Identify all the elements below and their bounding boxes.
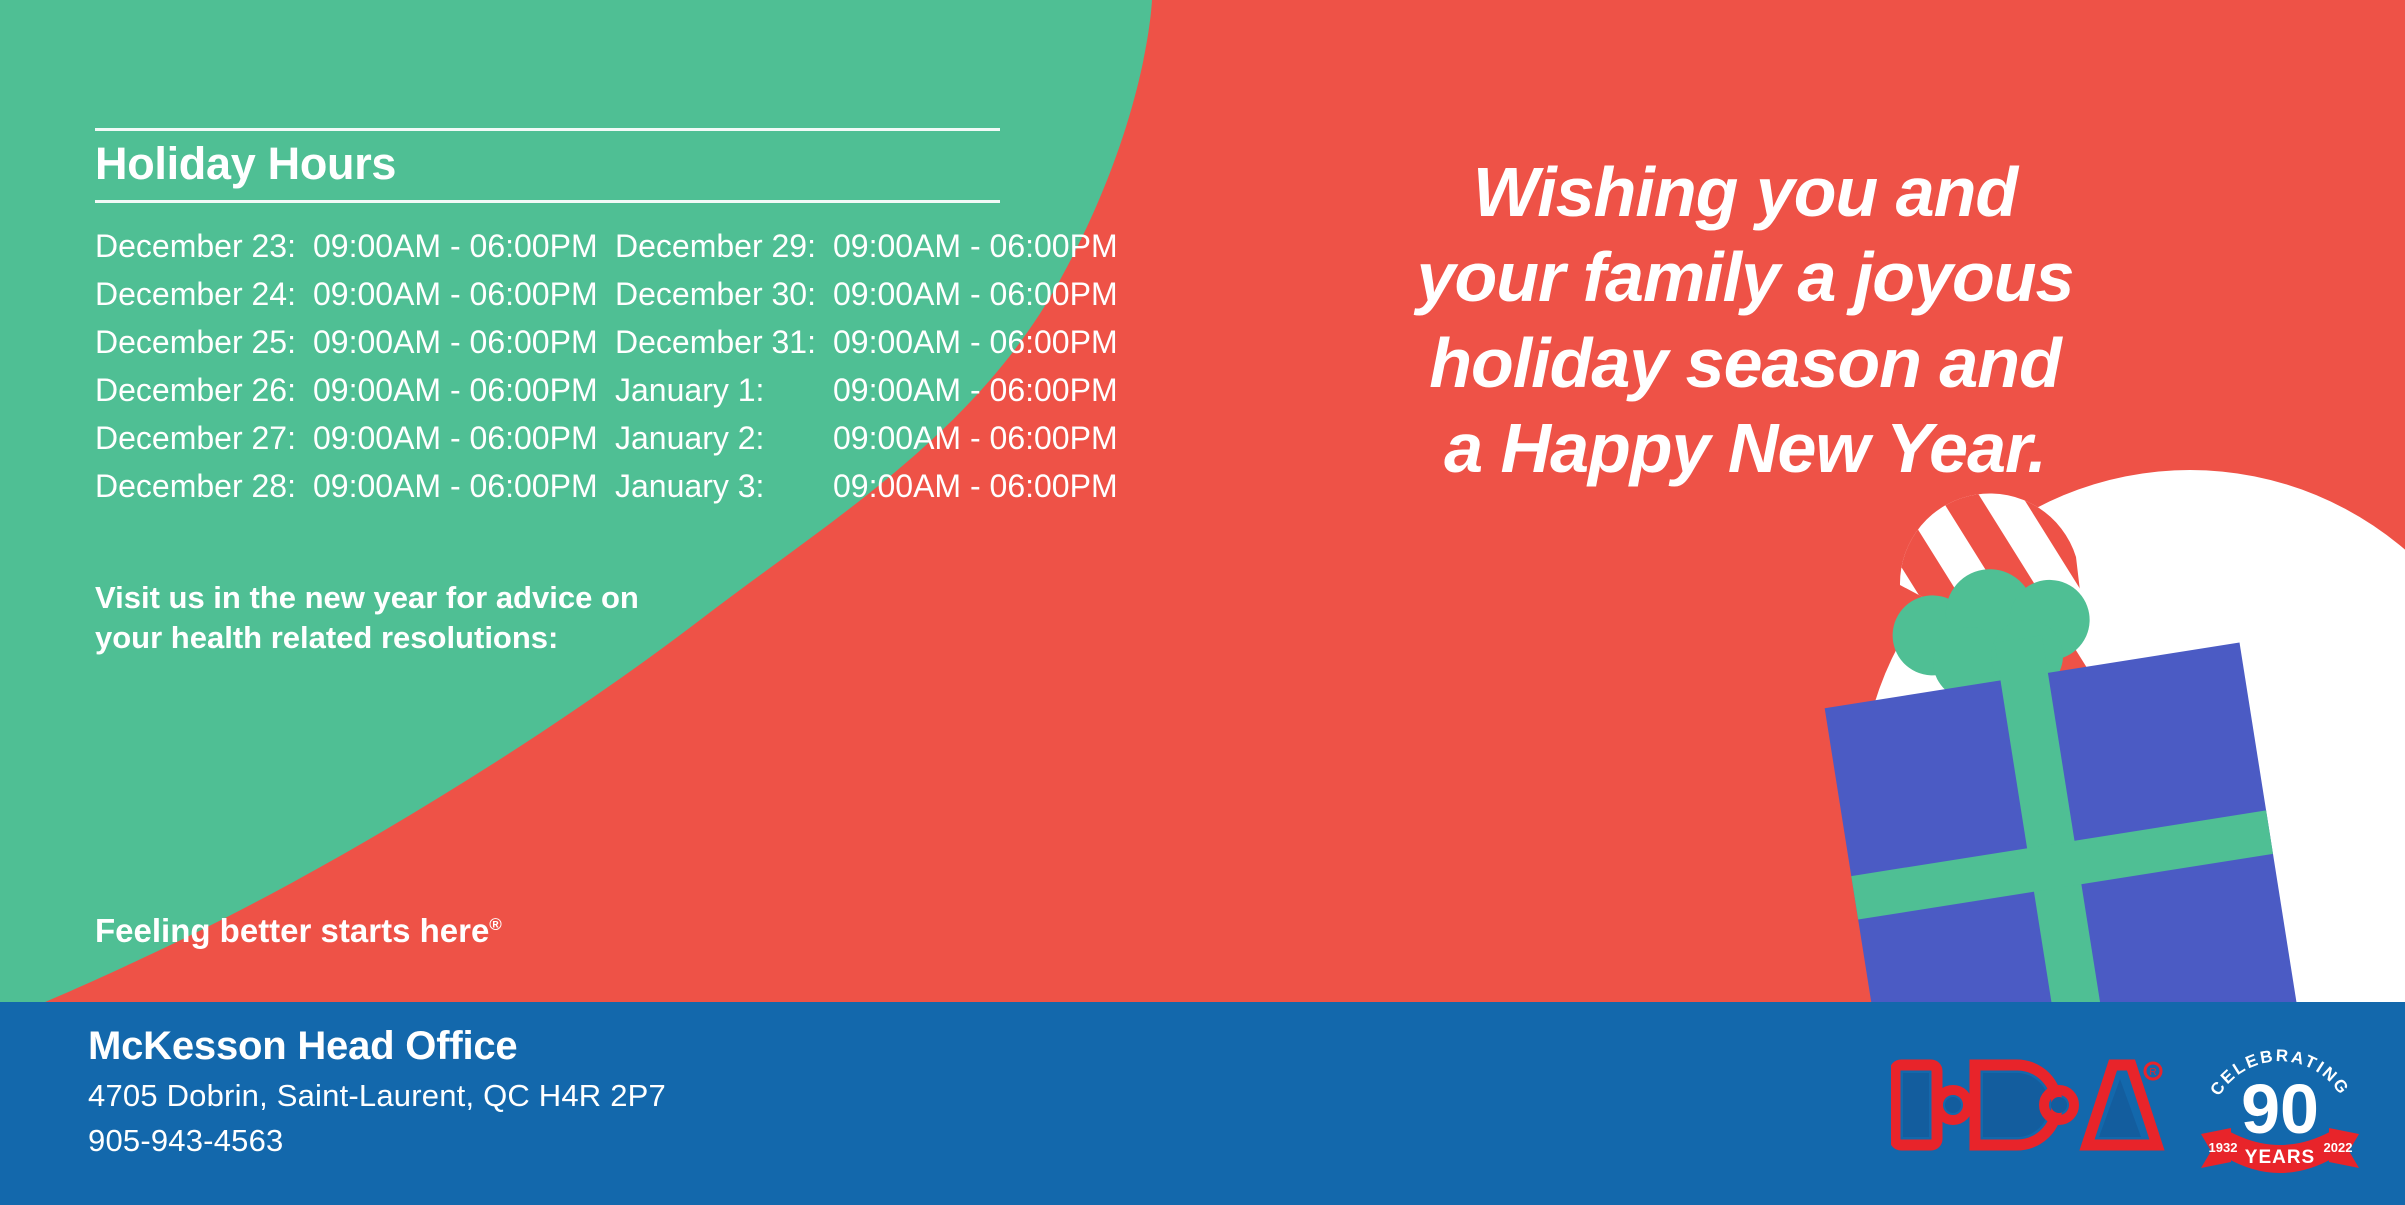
- hours-time: 09:00AM - 06:00PM: [313, 372, 598, 409]
- hours-time: 09:00AM - 06:00PM: [313, 324, 598, 361]
- footer-phone: 905-943-4563: [88, 1123, 666, 1159]
- hours-time: 09:00AM - 06:00PM: [833, 420, 1118, 457]
- hours-date: December 23:: [95, 228, 313, 265]
- badge-end-year: 2022: [2324, 1140, 2353, 1155]
- hours-time: 09:00AM - 06:00PM: [313, 228, 598, 265]
- hours-row: December 29: 09:00AM - 06:00PM: [615, 228, 1135, 276]
- hours-row: December 23: 09:00AM - 06:00PM: [95, 228, 615, 276]
- hours-row: January 2: 09:00AM - 06:00PM: [615, 420, 1135, 468]
- hours-date: December 24:: [95, 276, 313, 313]
- hours-row: December 24: 09:00AM - 06:00PM: [95, 276, 615, 324]
- holiday-greeting-card: Holiday Hours December 23: 09:00AM - 06:…: [0, 0, 2405, 1205]
- hours-time: 09:00AM - 06:00PM: [833, 468, 1118, 505]
- footer-address: 4705 Dobrin, Saint-Laurent, QC H4R 2P7: [88, 1078, 666, 1114]
- hours-row: January 1: 09:00AM - 06:00PM: [615, 372, 1135, 420]
- anniversary-badge: CELEBRATING 90 1932 2022 YEARS: [2197, 1033, 2363, 1173]
- badge-start-year: 1932: [2209, 1140, 2238, 1155]
- holiday-hours-block: Holiday Hours December 23: 09:00AM - 06:…: [95, 128, 1105, 516]
- hours-time: 09:00AM - 06:00PM: [313, 468, 598, 505]
- hours-time: 09:00AM - 06:00PM: [313, 276, 598, 313]
- hours-row: December 25: 09:00AM - 06:00PM: [95, 324, 615, 372]
- visit-note: Visit us in the new year for advice on y…: [95, 578, 855, 657]
- footer-logos: R CELEBRATING 90 1932 2022 YEARS: [1891, 1030, 2363, 1175]
- hours-date: December 29:: [615, 228, 833, 265]
- hours-row: December 26: 09:00AM - 06:00PM: [95, 372, 615, 420]
- hours-row: December 27: 09:00AM - 06:00PM: [95, 420, 615, 468]
- footer-office-title: McKesson Head Office: [88, 1024, 666, 1069]
- hours-date: December 25:: [95, 324, 313, 361]
- hours-panel: Holiday Hours December 23: 09:00AM - 06:…: [95, 0, 1215, 1002]
- hours-row: December 31: 09:00AM - 06:00PM: [615, 324, 1135, 372]
- hours-row: December 28: 09:00AM - 06:00PM: [95, 468, 615, 516]
- hours-date: January 2:: [615, 420, 833, 457]
- hours-title: Holiday Hours: [95, 131, 1105, 194]
- divider-top: [95, 128, 1000, 131]
- hours-row: January 3: 09:00AM - 06:00PM: [615, 468, 1135, 516]
- hours-date: January 1:: [615, 372, 833, 409]
- ida-logo[interactable]: R: [1891, 1049, 2167, 1157]
- hours-time: 09:00AM - 06:00PM: [833, 324, 1118, 361]
- hours-time: 09:00AM - 06:00PM: [833, 228, 1118, 265]
- holiday-illustration: [1790, 370, 2405, 1002]
- registered-mark-icon: ®: [489, 915, 502, 934]
- hours-time: 09:00AM - 06:00PM: [833, 276, 1118, 313]
- hours-time: 09:00AM - 06:00PM: [313, 420, 598, 457]
- hours-date: December 31:: [615, 324, 833, 361]
- hours-date: December 30:: [615, 276, 833, 313]
- badge-number-90: 90: [2241, 1070, 2319, 1148]
- footer-contact: McKesson Head Office 4705 Dobrin, Saint-…: [88, 1024, 666, 1159]
- hours-date: December 26:: [95, 372, 313, 409]
- greeting-line-1: Wishing you and: [1345, 150, 2145, 235]
- hours-date: December 28:: [95, 468, 313, 505]
- divider-bottom: [95, 200, 1000, 203]
- hours-grid: December 23: 09:00AM - 06:00PM December …: [95, 228, 1105, 516]
- hours-date: December 27:: [95, 420, 313, 457]
- badge-years-text: YEARS: [2245, 1147, 2315, 1168]
- visit-note-line-1: Visit us in the new year for advice on: [95, 578, 855, 618]
- greeting-line-2: your family a joyous: [1345, 235, 2145, 320]
- visit-note-line-2: your health related resolutions:: [95, 618, 855, 658]
- hours-date: January 3:: [615, 468, 833, 505]
- tagline-text: Feeling better starts here: [95, 912, 489, 949]
- brand-tagline: Feeling better starts here®: [95, 912, 502, 950]
- ida-registered-mark: R: [2149, 1067, 2156, 1078]
- hours-time: 09:00AM - 06:00PM: [833, 372, 1118, 409]
- hours-row: December 30: 09:00AM - 06:00PM: [615, 276, 1135, 324]
